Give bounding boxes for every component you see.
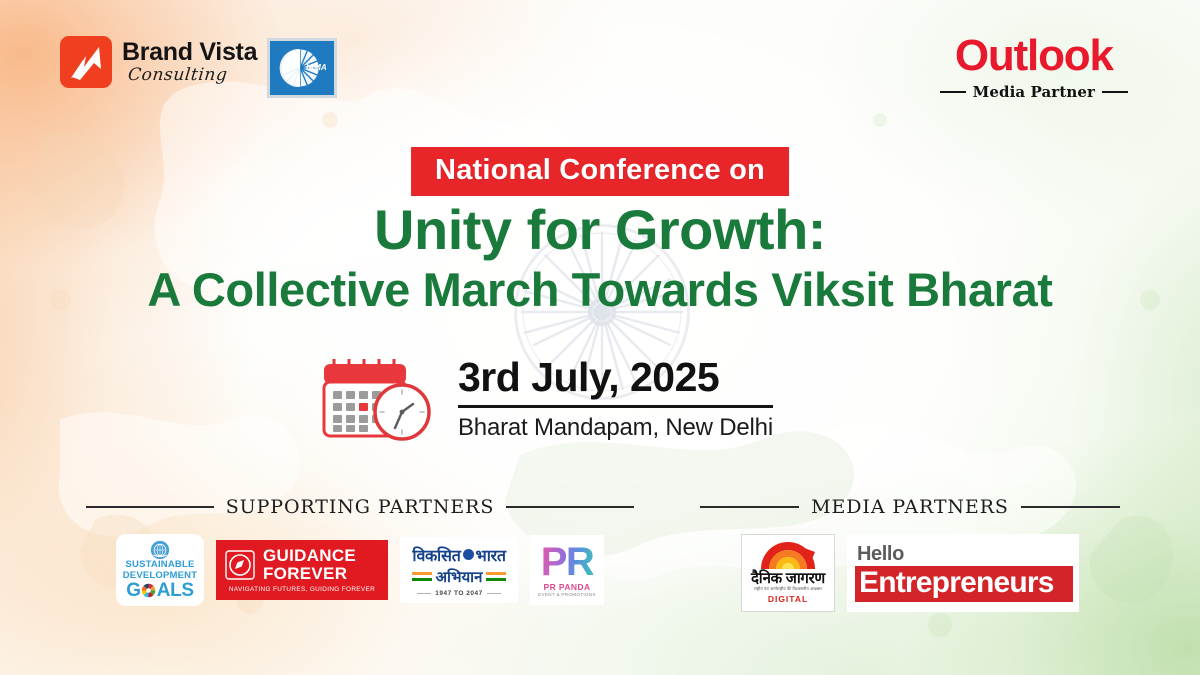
viksit-bharat-line-2: अभियान: [436, 567, 483, 587]
media-partners-section: MEDIA PARTNERS दैनिक जागरण राष्ट्रीय एवं…: [700, 496, 1120, 612]
sdg-line-1: SUSTAINABLE: [125, 560, 194, 570]
sunburst-icon: [759, 542, 817, 570]
event-venue: Bharat Mandapam, New Delhi: [458, 414, 773, 442]
compass-icon: [225, 550, 255, 580]
conference-kicker: National Conference on: [411, 147, 789, 196]
outlook-rule-left: [940, 91, 966, 93]
title-line-2: A Collective March Towards Viksit Bharat: [0, 264, 1200, 317]
calendar-clock-icon: [316, 352, 436, 444]
iama-globe-icon: IAMA: [270, 41, 334, 95]
pr-panda-tagline: EVENT & PROMOTIONS: [538, 592, 596, 597]
brand-vista-tagline: Consulting: [127, 67, 258, 84]
tricolor-bar-left-icon: [412, 572, 432, 581]
dainik-jagran-tagline: राष्ट्रीय एवं अर्न्तराष्ट्रीय की विश्वसन…: [754, 586, 822, 592]
hello-entrepreneurs-word-2: Entrepreneurs: [855, 566, 1073, 602]
sdg-line-3: G ALS: [126, 581, 194, 600]
years-rule-right: [487, 593, 501, 594]
date-divider: [458, 405, 773, 408]
iama-logo: IAMA: [267, 38, 337, 98]
supporting-partners-logos: SUSTAINABLE DEVELOPMENT G: [86, 534, 634, 606]
conference-banner: Brand Vista Consulting IAMA Outlook Medi…: [0, 0, 1200, 675]
event-datetime-block: 3rd July, 2025 Bharat Mandapam, New Delh…: [316, 352, 773, 444]
partner-logo-pr-panda[interactable]: PR PR PANDA EVENT & PROMOTIONS: [530, 535, 604, 605]
partner-logo-hello-entrepreneurs[interactable]: Hello Entrepreneurs: [847, 534, 1079, 612]
outlook-wordmark: Outlook: [940, 34, 1128, 78]
un-emblem-icon: [150, 540, 170, 560]
outlook-logo: Outlook Media Partner: [940, 34, 1128, 101]
partner-logo-dainik-jagran-digital[interactable]: दैनिक जागरण राष्ट्रीय एवं अर्न्तराष्ट्री…: [741, 534, 835, 612]
viksit-bharat-years: 1947 TO 2047: [435, 590, 482, 597]
svg-text:IAMA: IAMA: [306, 63, 327, 72]
event-date: 3rd July, 2025: [458, 356, 773, 399]
media-partners-logos: दैनिक जागरण राष्ट्रीय एवं अर्न्तराष्ट्री…: [700, 534, 1120, 612]
dainik-jagran-sub: DIGITAL: [768, 594, 808, 604]
hello-entrepreneurs-word-1: Hello: [857, 544, 1073, 564]
brand-vista-logo: Brand Vista Consulting: [60, 36, 257, 88]
pr-panda-name: PR PANDA: [544, 582, 591, 592]
conference-title: Unity for Growth: A Collective March Tow…: [0, 200, 1200, 317]
heading-rule-right: [1021, 506, 1120, 508]
viksit-bharat-line-1a: विकसित: [412, 544, 460, 566]
media-partners-label: MEDIA PARTNERS: [811, 496, 1009, 518]
sdg-color-wheel-icon: [141, 583, 156, 598]
pr-panda-monogram: PR: [541, 543, 594, 581]
heading-rule-left: [700, 506, 799, 508]
outlook-role-label: Media Partner: [973, 83, 1095, 101]
arrow-up-right-icon: [60, 36, 112, 88]
viksit-bharat-line-1b: भारत: [476, 544, 506, 566]
partner-logo-sustainable-development-goals[interactable]: SUSTAINABLE DEVELOPMENT G: [116, 534, 204, 606]
tricolor-bar-right-icon: [486, 572, 506, 581]
partner-logo-guidance-forever[interactable]: GUIDANCE FOREVER NAVIGATING FUTURES, GUI…: [216, 540, 388, 600]
supporting-partners-heading: SUPPORTING PARTNERS: [86, 496, 634, 518]
outlook-rule-right: [1102, 91, 1128, 93]
guidance-forever-word-1: GUIDANCE: [263, 547, 356, 564]
guidance-forever-tagline: NAVIGATING FUTURES, GUIDING FOREVER: [225, 586, 379, 593]
partner-logo-viksit-bharat-abhiyan[interactable]: विकसित भारत अभियान 1947 TO 2047: [400, 537, 518, 603]
chakra-dot-icon: [463, 549, 474, 560]
brand-vista-name: Brand Vista: [122, 40, 257, 65]
heading-rule-left: [86, 506, 214, 508]
heading-rule-right: [506, 506, 634, 508]
dainik-jagran-title: दैनिक जागरण: [751, 571, 825, 587]
supporting-partners-label: SUPPORTING PARTNERS: [226, 496, 495, 518]
title-line-1: Unity for Growth:: [0, 200, 1200, 260]
guidance-forever-word-2: FOREVER: [263, 565, 356, 582]
media-partners-heading: MEDIA PARTNERS: [700, 496, 1120, 518]
years-rule-left: [417, 593, 431, 594]
supporting-partners-section: SUPPORTING PARTNERS SUSTAINABLE DEVELOPM…: [86, 496, 634, 606]
